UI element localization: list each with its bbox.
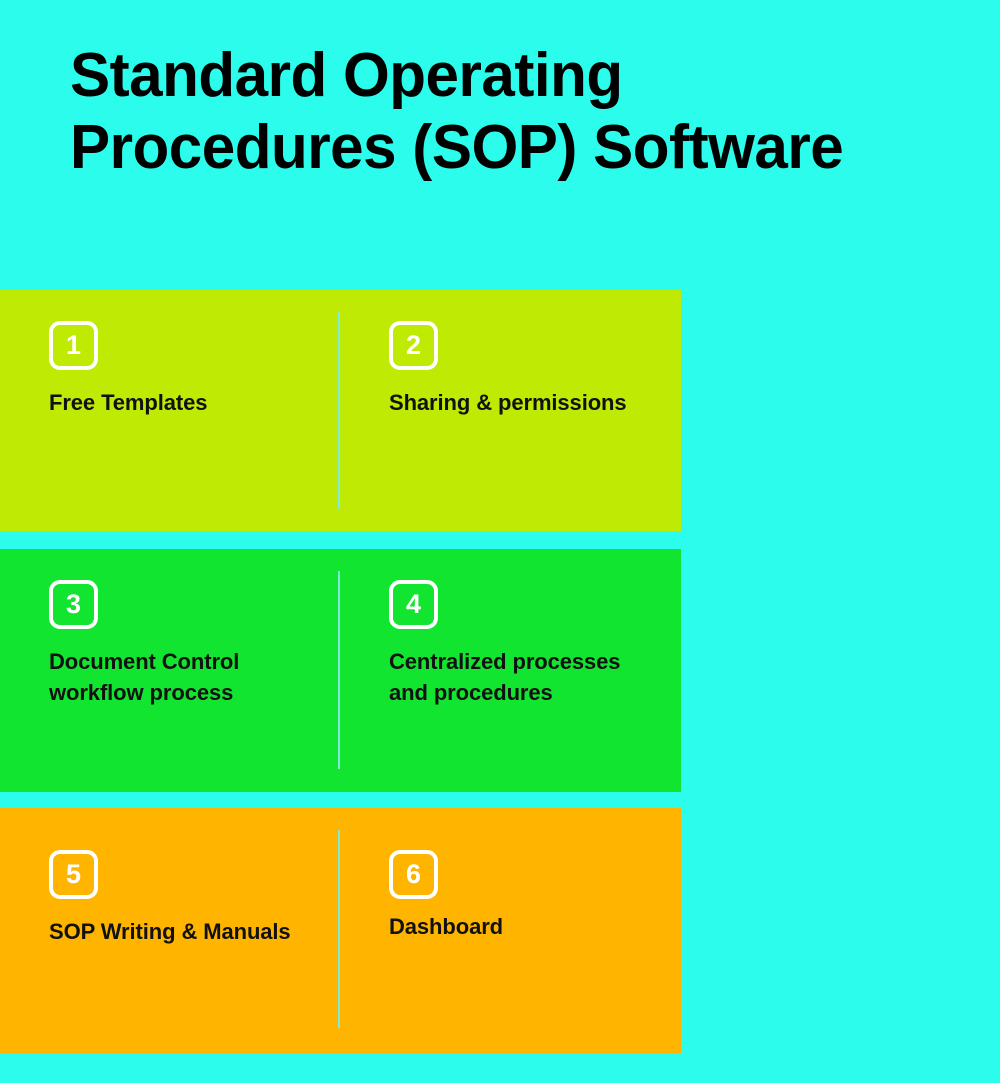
page-title: Standard Operating Procedures (SOP) Soft… xyxy=(70,40,970,184)
step-number-badge-5: 5 xyxy=(49,850,98,899)
feature-label-1: Free Templates xyxy=(49,387,319,418)
column-divider xyxy=(338,312,340,510)
feature-label-3: Document Control workflow process xyxy=(49,646,319,708)
step-number-badge-2: 2 xyxy=(389,321,438,370)
feature-label-2: Sharing & permissions xyxy=(389,387,659,418)
step-number-badge-6: 6 xyxy=(389,850,438,899)
step-number-badge-1: 1 xyxy=(49,321,98,370)
infographic-page: Standard Operating Procedures (SOP) Soft… xyxy=(0,0,1000,1083)
panel-row-3: 5 SOP Writing & Manuals 6 Dashboard xyxy=(0,808,681,1053)
feature-item-6[interactable]: 6 Dashboard xyxy=(389,850,659,942)
feature-item-3[interactable]: 3 Document Control workflow process xyxy=(49,580,319,708)
column-divider xyxy=(338,571,340,769)
feature-item-2[interactable]: 2 Sharing & permissions xyxy=(389,321,659,418)
feature-item-4[interactable]: 4 Centralized processes and procedures xyxy=(389,580,659,708)
panel-row-2: 3 Document Control workflow process 4 Ce… xyxy=(0,549,681,792)
panel-row-1: 1 Free Templates 2 Sharing & permissions xyxy=(0,290,681,531)
feature-item-5[interactable]: 5 SOP Writing & Manuals xyxy=(49,850,319,947)
feature-label-5: SOP Writing & Manuals xyxy=(49,916,319,947)
page-title-line-2: Procedures (SOP) Software xyxy=(70,112,943,184)
feature-item-1[interactable]: 1 Free Templates xyxy=(49,321,319,418)
page-title-line-1: Standard Operating xyxy=(70,40,943,112)
step-number-badge-4: 4 xyxy=(389,580,438,629)
feature-label-4: Centralized processes and procedures xyxy=(389,646,659,708)
step-number-badge-3: 3 xyxy=(49,580,98,629)
feature-label-6: Dashboard xyxy=(389,911,659,942)
column-divider xyxy=(338,830,340,1028)
